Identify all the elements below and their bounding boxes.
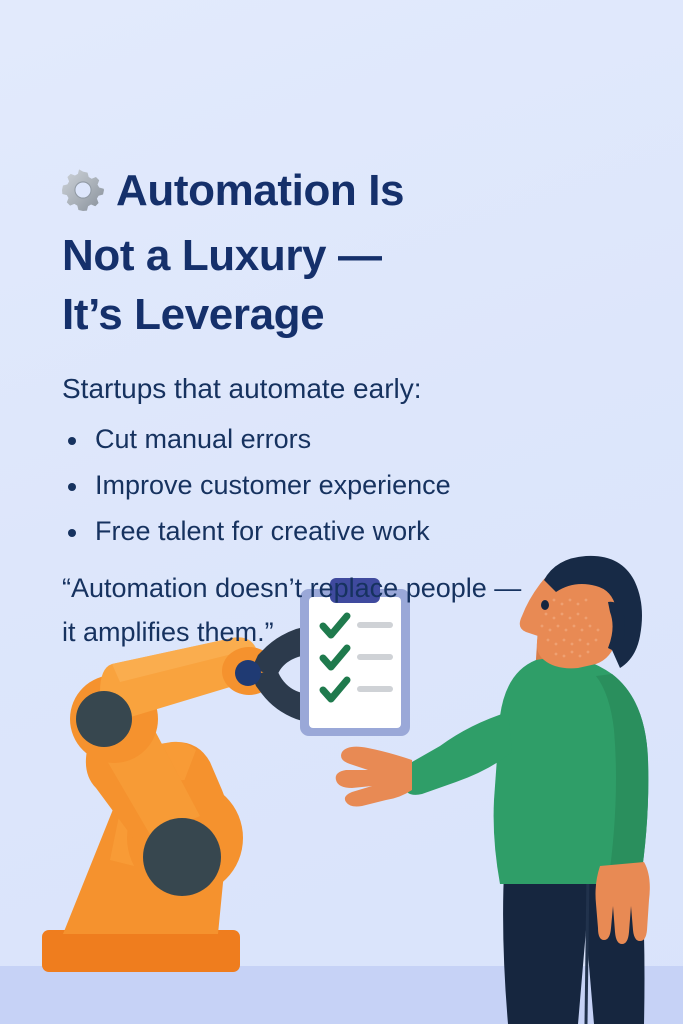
person-far-arm [598,700,644,880]
robot-wrist-pivot [235,660,261,686]
list-item-label: Free talent for creative work [95,516,430,546]
gear-icon [62,109,104,227]
robot-elbow-cap [127,780,243,896]
person-extended-arm-sleeve [401,712,512,795]
floor-band [0,966,683,1024]
text-block: Automation Is Not a Luxury — It’s Levera… [62,50,662,654]
robot-arm [42,625,312,972]
page-title-text: Automation Is Not a Luxury — It’s Levera… [62,166,404,339]
robot-lower-segment-highlight [110,742,196,870]
robot-joint-shoulder [76,691,132,747]
list-item-label: Improve customer experience [95,470,451,500]
clipboard-check-3 [323,680,347,699]
list-item-label: Cut manual errors [95,424,311,454]
clipboard-line-2 [357,654,393,660]
bullet-dot-icon [68,483,76,491]
poster-canvas: Automation Is Not a Luxury — It’s Levera… [0,0,683,1024]
robot-mid-segment [86,700,226,899]
robot-gripper-lower-jaw [252,668,312,724]
bullet-dot-icon [68,437,76,445]
list-item: Cut manual errors [62,426,662,453]
page-title: Automation Is Not a Luxury — It’s Levera… [62,50,662,345]
robot-shoulder-cap [70,675,158,763]
robot-mid-segment-highlight [96,700,200,838]
subhead: Startups that automate early: [62,371,662,406]
person-sweater-shade [596,674,648,884]
person-far-hand [596,862,650,944]
list-item: Improve customer experience [62,472,662,499]
bullet-dot-icon [68,529,76,537]
person-sweater [494,656,649,884]
robot-joint-elbow [143,818,221,896]
clipboard-line-3 [357,686,393,692]
benefits-list: Cut manual errors Improve customer exper… [62,426,662,545]
pull-quote: “Automation doesn’t replace people — it … [62,567,662,654]
person-extended-hand [336,747,412,807]
list-item: Free talent for creative work [62,518,662,545]
robot-lower-segment [63,742,228,934]
